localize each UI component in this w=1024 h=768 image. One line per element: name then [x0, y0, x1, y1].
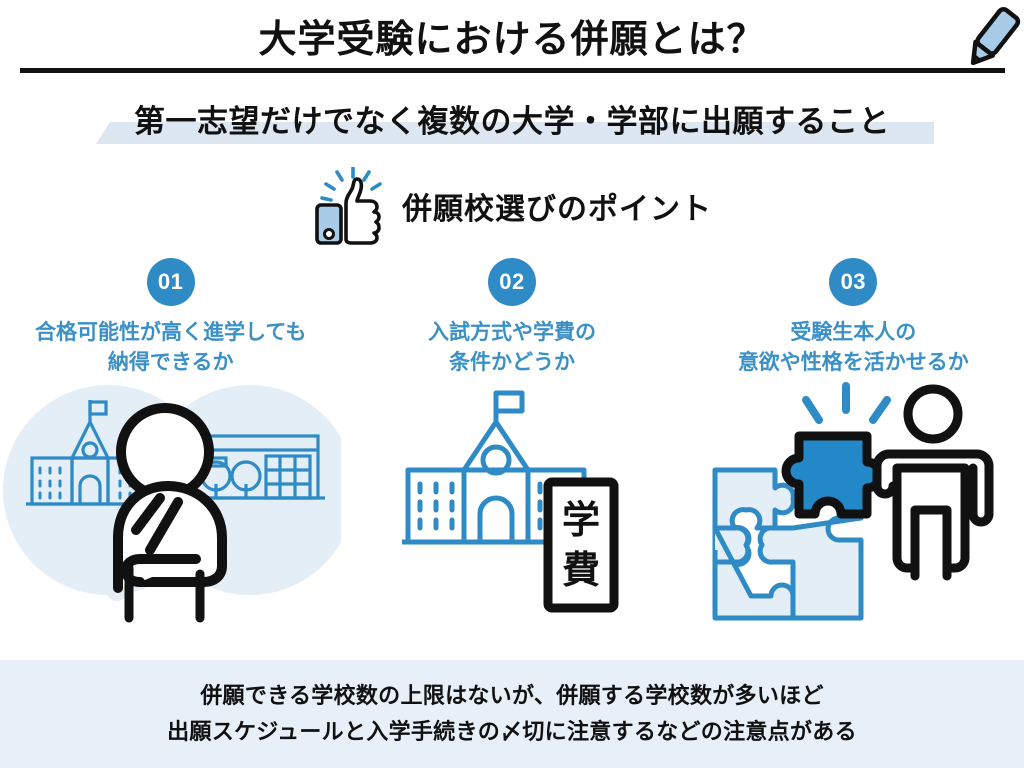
point-number-badge-01: 01 [147, 258, 195, 306]
thought-bubble-small-1 [72, 552, 104, 584]
points-row: 01 合格可能性が高く進学しても 納得できるか [0, 258, 1024, 658]
puzzle-person-illustration [703, 378, 1003, 628]
footer-note-text: 併願できる学校数の上限はないが、併願する学校数が多いほど 出願スケジュールと入学… [167, 678, 857, 751]
page-title: 大学受験における併願とは？ [0, 8, 1024, 63]
subtitle-text: 第一志望だけでなく複数の大学・学部に出願すること [0, 96, 1024, 141]
school-tuition-illustration: 学 費 [382, 378, 642, 628]
infographic-slide: 大学受験における併願とは？ 第一志望だけでなく複数の大学・学部に出願すること [0, 0, 1024, 768]
point-illustration-01 [0, 378, 341, 638]
point-label-03: 受験生本人の 意欲や性格を活かせるか [738, 318, 969, 379]
point-number-badge-02: 02 [488, 258, 536, 306]
sparkle-lines [806, 386, 887, 420]
footer-note-band: 併願できる学校数の上限はないが、併願する学校数が多いほど 出願スケジュールと入学… [0, 660, 1024, 768]
tuition-sign-char-1: 学 [562, 499, 600, 542]
thought-bubble-small-4 [245, 538, 281, 574]
tuition-sign: 学 費 [548, 482, 614, 608]
point-number-badge-03: 03 [829, 258, 877, 306]
tuition-sign-char-2: 費 [562, 550, 600, 592]
point-column-02: 02 入試方式や学費の 条件かどうか [341, 258, 682, 658]
point-label-02: 入試方式や学費の 条件かどうか [428, 318, 596, 379]
pencil-icon [956, 2, 1024, 74]
section-heading: 併願校選びのポイント [0, 166, 1024, 246]
title-underline-rule [20, 68, 1005, 73]
point-illustration-02: 学 費 [341, 378, 682, 638]
thinking-student-illustration [0, 378, 341, 638]
point-column-01: 01 合格可能性が高く進学しても 納得できるか [0, 258, 341, 658]
point-column-03: 03 受験生本人の 意欲や性格を活かせるか [683, 258, 1024, 658]
highlight-puzzle-piece [786, 436, 880, 514]
thumbs-up-icon [312, 167, 388, 245]
point-label-01: 合格可能性が高く進学しても 納得できるか [35, 318, 306, 379]
section-heading-text: 併願校選びのポイント [402, 184, 712, 228]
header: 大学受験における併願とは？ [0, 0, 1024, 86]
standing-person [877, 389, 989, 576]
subtitle-block: 第一志望だけでなく複数の大学・学部に出願すること [0, 96, 1024, 152]
point-illustration-03 [683, 378, 1024, 638]
